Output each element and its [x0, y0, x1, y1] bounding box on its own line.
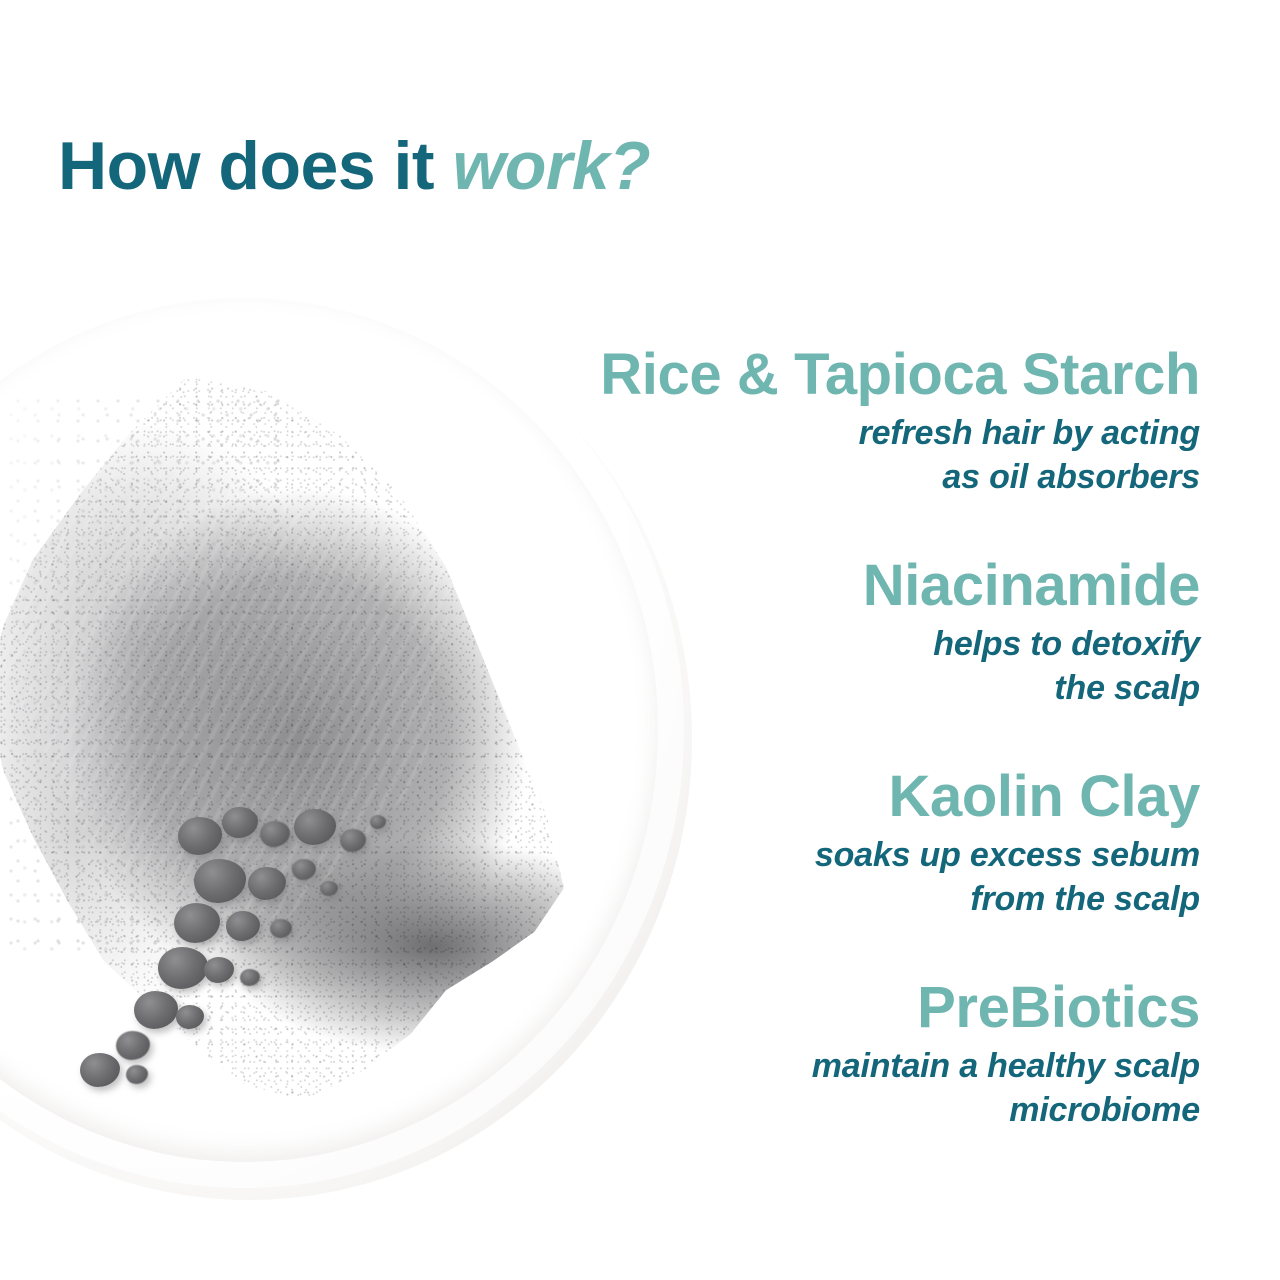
page-title: How does it work? [58, 132, 650, 200]
ingredient-item-kaolin-clay: Kaolin Clay soaks up excess sebum from t… [560, 766, 1200, 921]
ingredient-item-prebiotics: PreBiotics maintain a healthy scalp micr… [560, 977, 1200, 1132]
ingredient-item-niacinamide: Niacinamide helps to detoxify the scalp [560, 555, 1200, 710]
ingredient-name: Rice & Tapioca Starch [560, 344, 1200, 406]
powder-layers [0, 367, 604, 1127]
powder-clumps [174, 807, 574, 1137]
ingredient-name: Kaolin Clay [560, 766, 1200, 828]
ingredient-description: maintain a healthy scalp microbiome [560, 1045, 1200, 1132]
infographic-canvas: How does it work? [0, 0, 1280, 1280]
ingredient-name: PreBiotics [560, 977, 1200, 1039]
ingredient-description: refresh hair by acting as oil absorbers [560, 412, 1200, 499]
ingredient-list: Rice & Tapioca Starch refresh hair by ac… [560, 344, 1200, 1132]
page-title-accent: work? [452, 128, 650, 204]
ingredient-description: helps to detoxify the scalp [560, 623, 1200, 710]
page-title-plain: How does it [58, 128, 452, 204]
clay-powder-smear [0, 367, 604, 1127]
ingredient-item-rice-tapioca-starch: Rice & Tapioca Starch refresh hair by ac… [560, 344, 1200, 499]
ingredient-description: soaks up excess sebum from the scalp [560, 834, 1200, 921]
ingredient-name: Niacinamide [560, 555, 1200, 617]
